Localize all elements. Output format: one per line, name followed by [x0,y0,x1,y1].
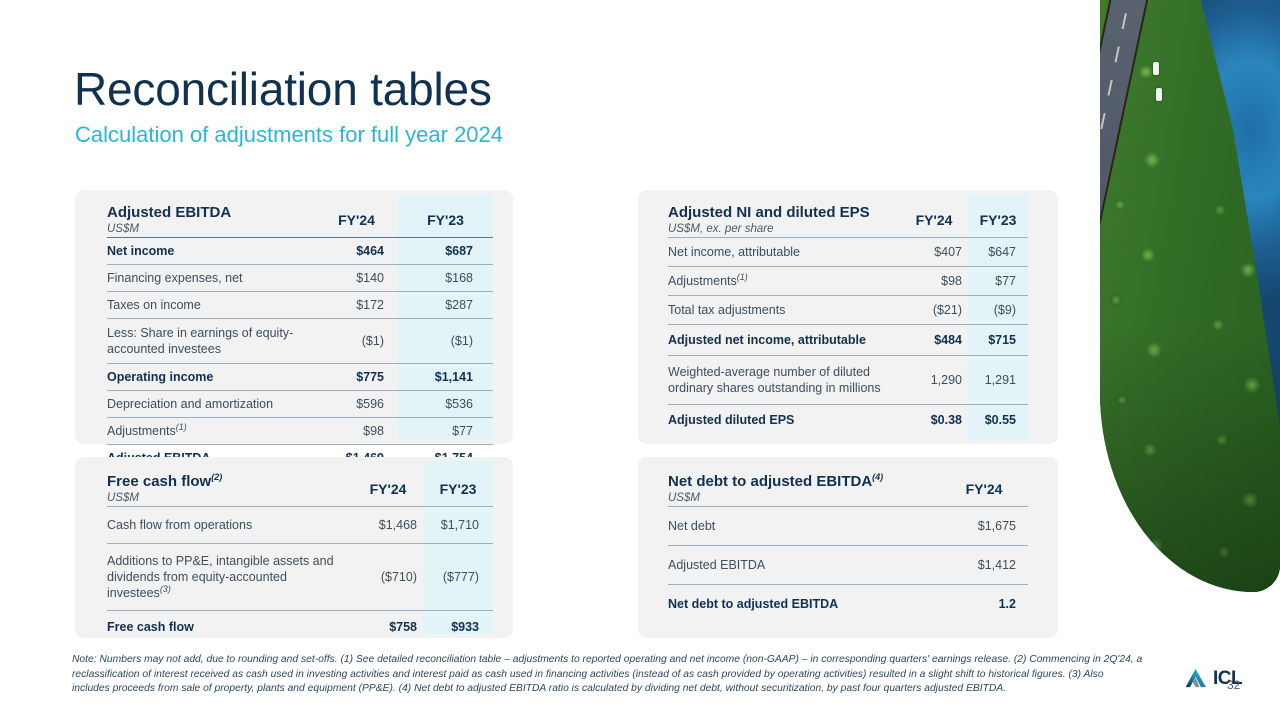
table-row: Net debt $1,675 [668,506,1028,545]
table-header-row: Adjusted NI and diluted EPS US$M, ex. pe… [668,204,1028,237]
road-surface [1100,0,1152,592]
table-row: Weighted-average number of diluted ordin… [668,355,1028,404]
column-header-fy23: FY'23 [423,473,493,506]
card-adjusted-ebitda: Adjusted EBITDA US$M FY'24 FY'23 Net inc… [75,190,513,444]
column-header-fy23: FY'23 [968,204,1028,237]
column-header-fy24: FY'24 [353,473,423,506]
table-row: Additions to PP&E, intangible assets and… [107,543,493,610]
table-header-row: Net debt to adjusted EBITDA(4) US$M FY'2… [668,473,1028,506]
table-row: Operating income $775 $1,141 [107,363,493,390]
icl-logo-mark [1185,668,1207,688]
table-unit: US$M [107,221,315,236]
table-row: Depreciation and amortization $596 $536 [107,390,493,417]
table-title: Adjusted NI and diluted EPS [668,204,900,221]
page-subtitle: Calculation of adjustments for full year… [75,124,503,146]
table-header-row: Adjusted EBITDA US$M FY'24 FY'23 [107,204,493,237]
table-row: Financing expenses, net $140 $168 [107,264,493,291]
footnote-marker: (2) [211,472,222,482]
column-header-fy24: FY'24 [315,204,398,237]
table-title: Free cash flow(2) [107,473,353,490]
car-icon [1153,62,1159,75]
table-row: Taxes on income $172 $287 [107,291,493,318]
table-row: Free cash flow $758 $933 [107,610,493,639]
table-unit: US$M [107,490,353,505]
footnote-marker: (3) [160,583,171,593]
car-icon [1156,88,1162,101]
table-row: Less: Share in earnings of equity-accoun… [107,318,493,363]
slide-root: Reconciliation tables Calculation of adj… [0,0,1280,720]
table-row: Adjusted diluted EPS $0.38 $0.55 [668,404,1028,432]
table-row: Total tax adjustments ($21) ($9) [668,295,1028,324]
table-row: Net income, attributable $407 $647 [668,237,1028,266]
card-adjusted-ni-eps: Adjusted NI and diluted EPS US$M, ex. pe… [638,190,1058,444]
table-title: Adjusted EBITDA [107,204,315,221]
footnote-marker: (1) [176,421,187,431]
card-net-debt-to-adjusted-ebitda: Net debt to adjusted EBITDA(4) US$M FY'2… [638,457,1058,638]
column-header-fy24: FY'24 [900,204,968,237]
column-header-fy24: FY'24 [940,473,1028,506]
table-unit: US$M [668,490,940,505]
footnote-marker: (4) [872,472,883,482]
table-unit: US$M, ex. per share [668,221,900,236]
page-number: 32 [1227,678,1240,692]
page-title: Reconciliation tables [74,66,492,112]
table-row: Adjusted EBITDA $1,412 [668,545,1028,584]
column-header-fy23: FY'23 [398,204,493,237]
road [1100,0,1280,592]
table-row: Adjustments(1) $98 $77 [107,417,493,444]
decorative-aerial-photo [1100,0,1280,592]
table-row: Net debt to adjusted EBITDA 1.2 [668,584,1028,618]
table-title: Net debt to adjusted EBITDA(4) [668,473,940,490]
table-row: Net income $464 $687 [107,237,493,264]
footnote-marker: (1) [737,271,748,281]
table-header-row: Free cash flow(2) US$M FY'24 FY'23 [107,473,493,506]
table-row: Adjustments(1) $98 $77 [668,266,1028,295]
footnote-text: Note: Numbers may not add, due to roundi… [72,653,1144,697]
table-row: Adjusted net income, attributable $484 $… [668,324,1028,355]
table-row: Cash flow from operations $1,468 $1,710 [107,506,493,543]
road-centerline [1100,0,1134,592]
card-free-cash-flow: Free cash flow(2) US$M FY'24 FY'23 Cash … [75,457,513,638]
